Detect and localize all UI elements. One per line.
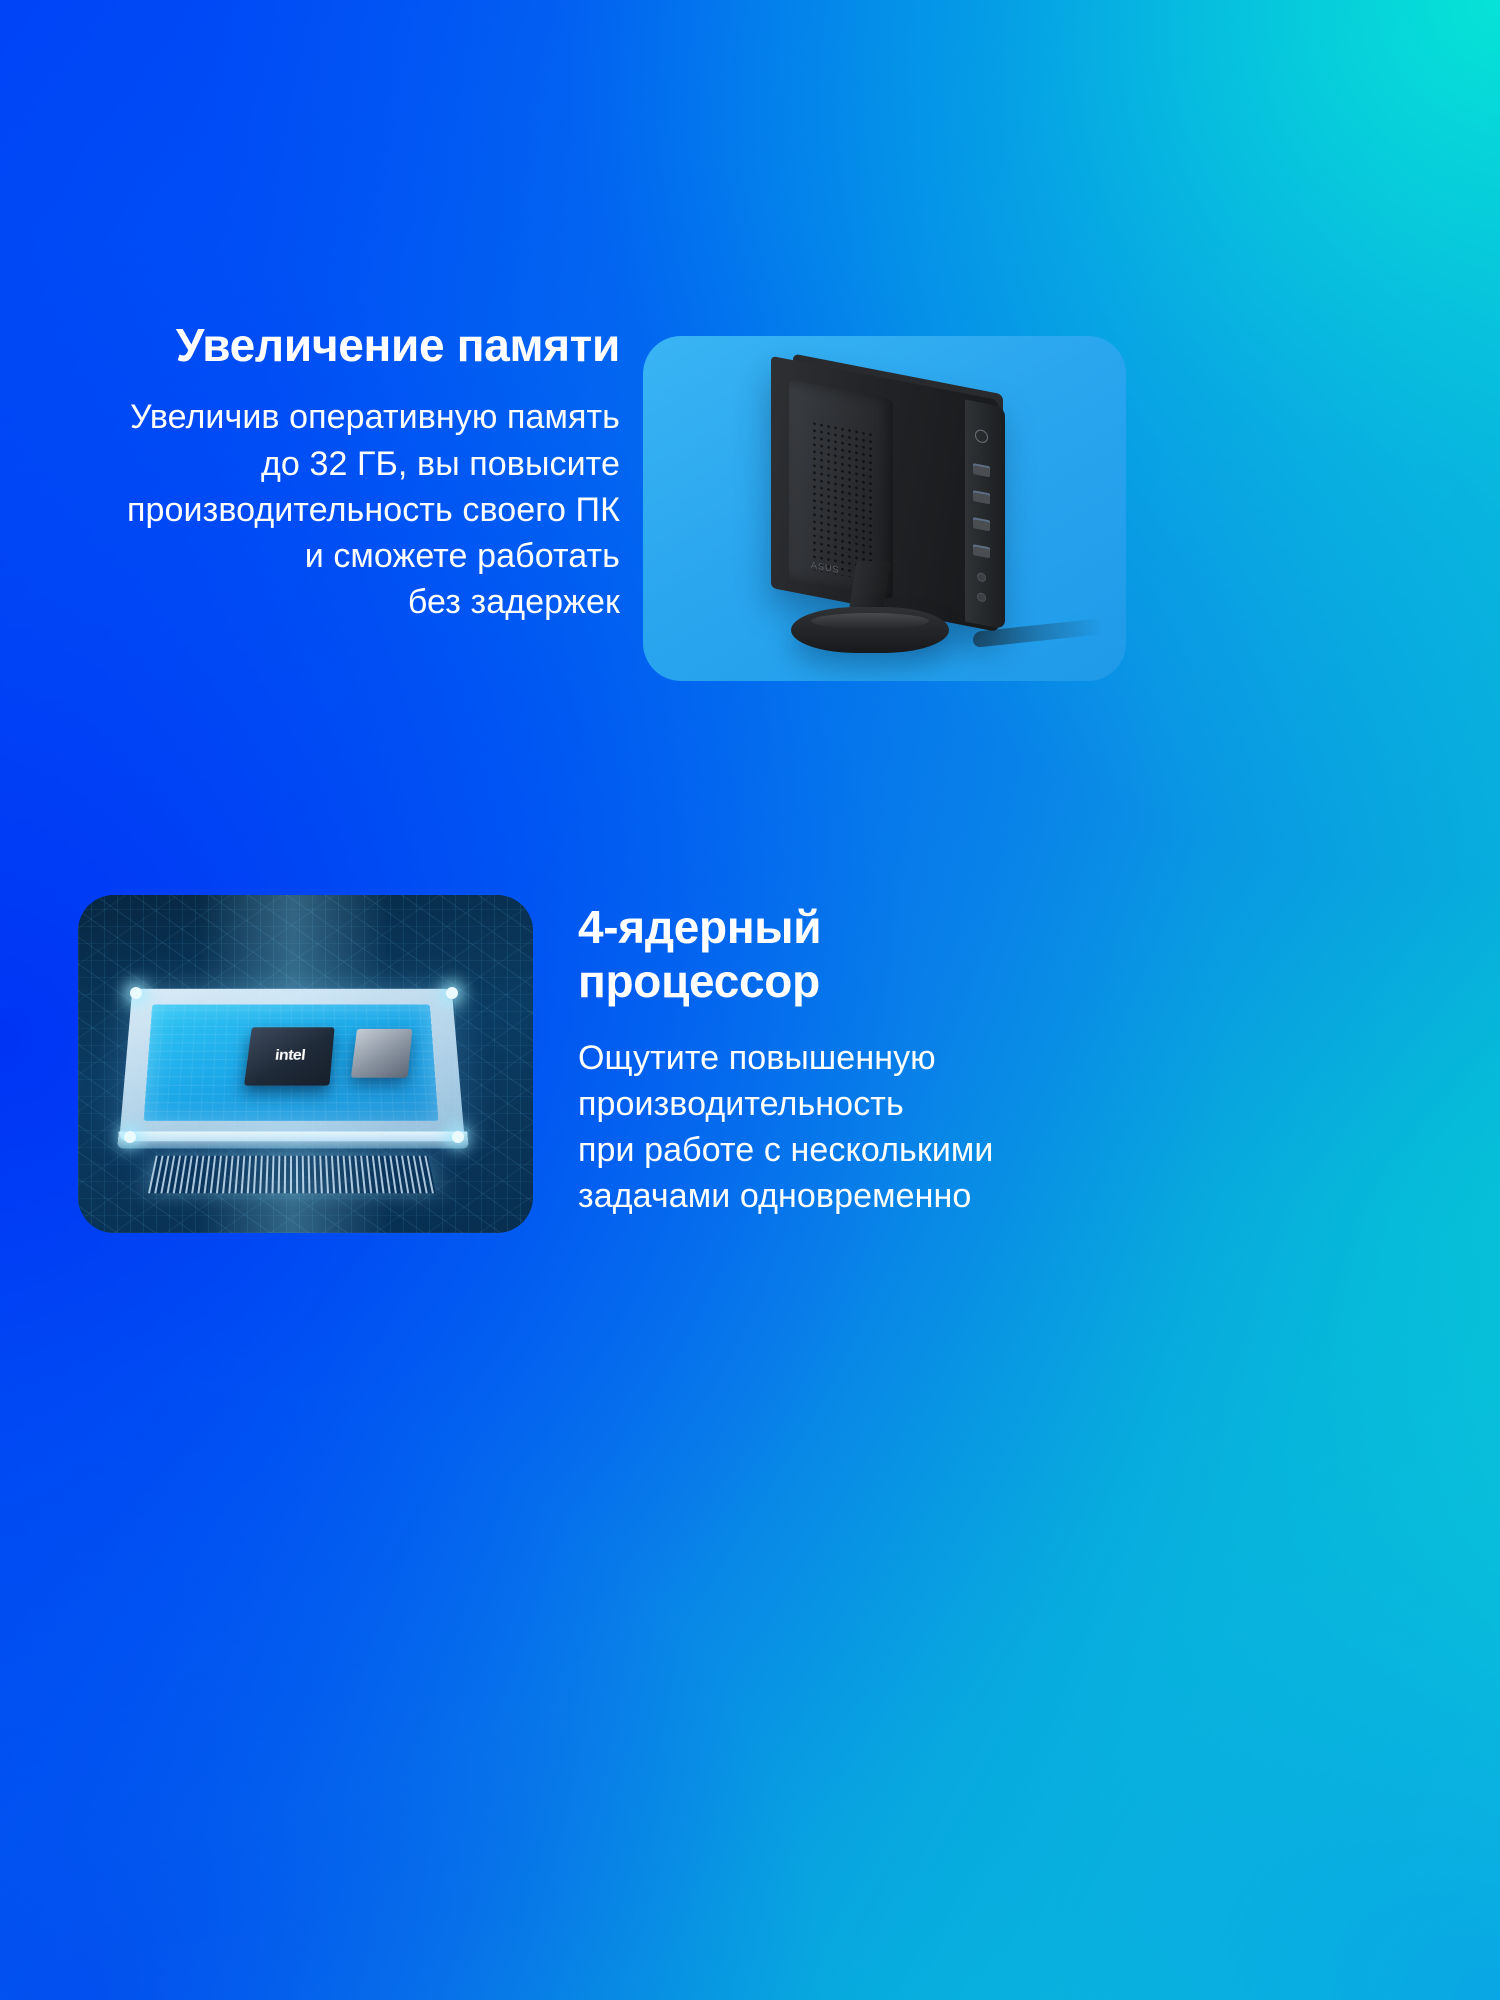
intel-logo-text: intel [274, 1048, 306, 1065]
memory-text-group: Увеличение памяти Увеличив оперативную п… [60, 318, 620, 625]
intel-chip-icon: intel [244, 1027, 335, 1085]
corner-glow-icon [452, 1131, 464, 1143]
corner-glow-icon [124, 1131, 136, 1143]
memory-heading: Увеличение памяти [60, 318, 620, 372]
processor-description: Ощутите повышенную производительность пр… [578, 1035, 1098, 1220]
chip-pins [148, 1156, 436, 1194]
processor-image-card: intel [78, 895, 533, 1233]
monitor-rear-icon: ASUS [643, 336, 1126, 681]
secondary-chip-icon [351, 1029, 412, 1078]
memory-image-card: ASUS [643, 336, 1126, 681]
substrate-edge [117, 1132, 469, 1149]
corner-glow-icon [446, 987, 458, 999]
processor-text-group: 4-ядерный процессор Ощутите повышенную п… [578, 900, 1098, 1219]
processor-heading: 4-ядерный процессор [578, 900, 1098, 1009]
feature-block-memory: Увеличение памяти Увеличив оперативную п… [0, 318, 1500, 688]
feature-block-processor: intel 4-ядерный процессор Ощутите повыше… [0, 895, 1500, 1335]
memory-description: Увеличив оперативную память до 32 ГБ, вы… [60, 394, 620, 625]
corner-glow-icon [130, 987, 142, 999]
